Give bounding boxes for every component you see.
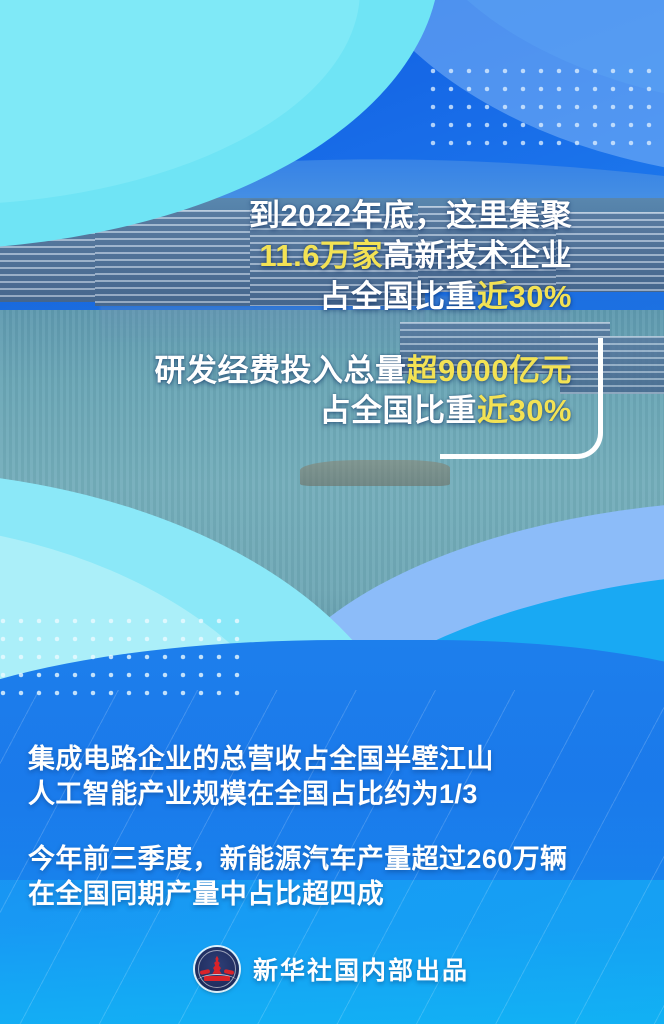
text-run: 到2022年底，这里集聚 xyxy=(249,198,572,233)
text-run-highlight: 超过260万辆 xyxy=(412,844,568,874)
stat-line: 到2022年底，这里集聚 xyxy=(92,196,572,236)
stat-line: 人工智能产业规模在全国占比约为1/3 xyxy=(28,777,648,812)
text-run: 人工智能产业规模在全国占比 xyxy=(28,779,384,809)
text-run: 占全国比重 xyxy=(319,279,477,314)
stat-block: 今年前三季度，新能源汽车产量超过260万辆 在全国同期产量中占比超四成 xyxy=(28,842,648,912)
stat-line: 集成电路企业的总营收占全国半壁江山 xyxy=(28,742,648,777)
text-run-highlight: 超四成 xyxy=(302,879,384,909)
publisher-label: 新华社国内部出品 xyxy=(253,951,469,987)
dot-matrix-top-right xyxy=(424,62,664,152)
stat-line: 研发经费投入总量超9000亿元 xyxy=(92,351,572,391)
bottom-statistics-copy: 集成电路企业的总营收占全国半壁江山 人工智能产业规模在全国占比约为1/3 今年前… xyxy=(28,742,648,912)
text-run: 集成电路企业的总营收占全国半壁江山 xyxy=(28,744,494,774)
stat-block: 集成电路企业的总营收占全国半壁江山 人工智能产业规模在全国占比约为1/3 xyxy=(28,742,648,812)
text-run-highlight: 11.6万家 xyxy=(259,238,383,273)
stat-block: 研发经费投入总量超9000亿元 占全国比重近30% xyxy=(92,351,572,432)
stat-line: 今年前三季度，新能源汽车产量超过260万辆 xyxy=(28,842,648,877)
text-run-highlight: 近30% xyxy=(477,393,572,428)
text-run-highlight: 近30% xyxy=(477,279,572,314)
footer-credit: 新华社国内部出品 xyxy=(0,938,664,1000)
text-run-highlight: 超9000亿元 xyxy=(407,353,572,388)
xinhua-emblem-icon xyxy=(195,947,239,991)
stat-block: 到2022年底，这里集聚 11.6万家高新技术企业 占全国比重近30% xyxy=(92,196,572,317)
stat-line: 在全国同期产量中占比超四成 xyxy=(28,877,648,912)
stat-line: 占全国比重近30% xyxy=(92,391,572,431)
stat-line: 11.6万家高新技术企业 xyxy=(92,236,572,276)
text-run: 研发经费投入总量 xyxy=(155,353,407,388)
infographic-poster: 到2022年底，这里集聚 11.6万家高新技术企业 占全国比重近30% 研发经费… xyxy=(0,0,664,1024)
text-run: 占全国比重 xyxy=(319,393,477,428)
dot-matrix-bottom-left xyxy=(0,612,244,704)
top-statistics-copy: 到2022年底，这里集聚 11.6万家高新技术企业 占全国比重近30% 研发经费… xyxy=(92,196,572,431)
text-run: 高新技术企业 xyxy=(383,238,572,273)
text-run-highlight: 约为1/3 xyxy=(384,779,478,809)
text-run: 今年前三季度，新能源汽车产量 xyxy=(28,844,412,874)
text-run: 在全国同期产量中占比 xyxy=(28,879,302,909)
stat-line: 占全国比重近30% xyxy=(92,277,572,317)
